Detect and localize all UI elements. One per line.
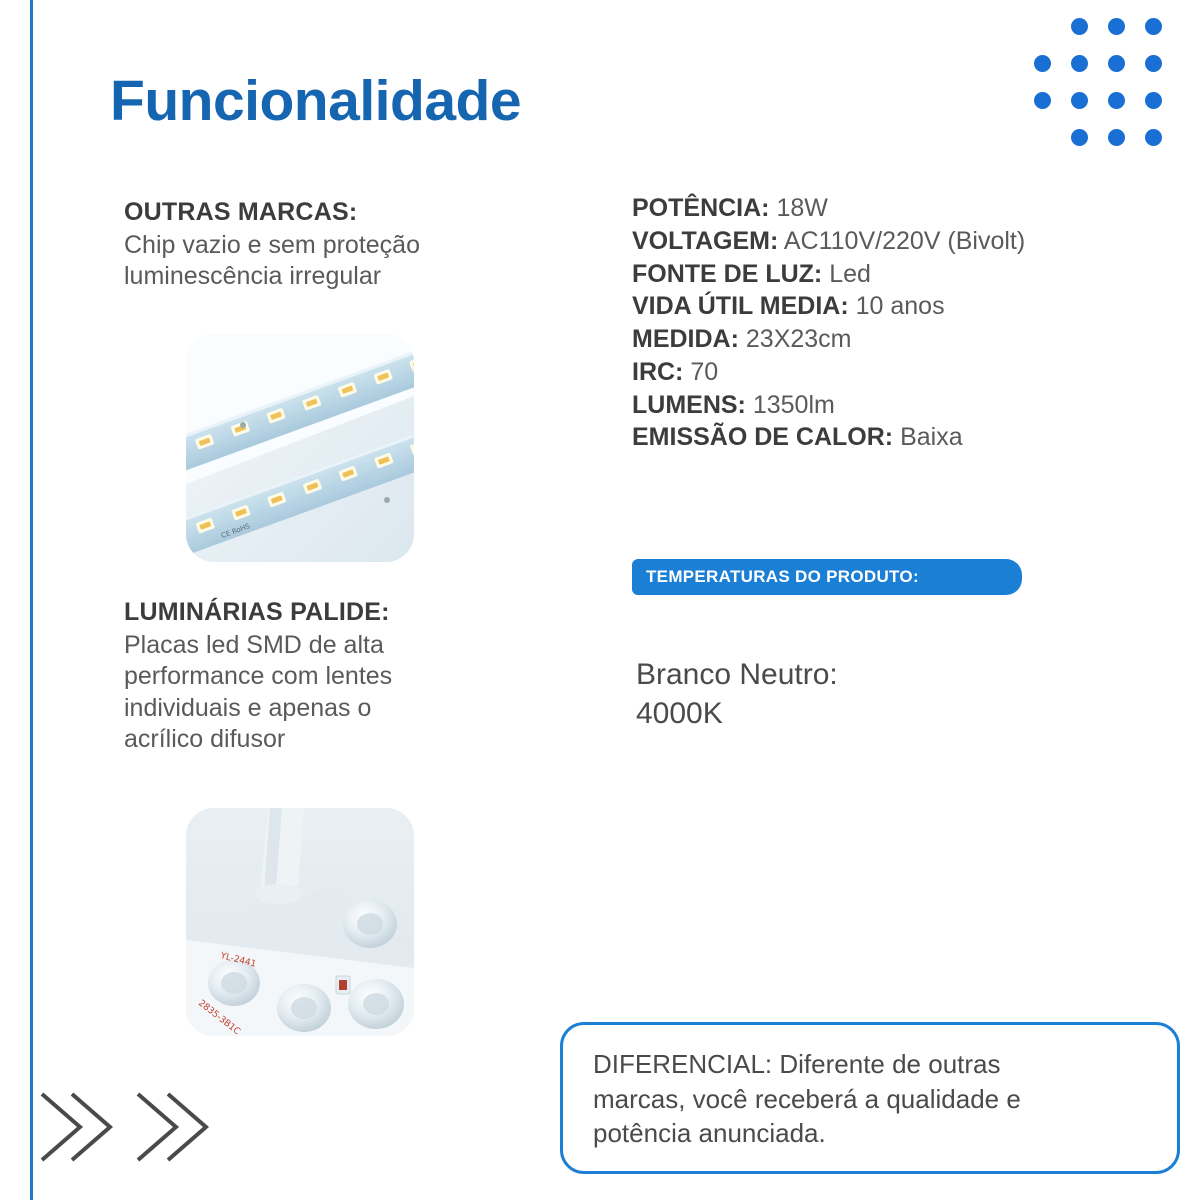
chevrons-decoration (28, 1082, 218, 1172)
pale-luminaires-body-line1: Placas led SMD de alta (124, 630, 524, 661)
spec-key: POTÊNCIA: (632, 194, 770, 222)
dot (1071, 55, 1088, 72)
spec-row: LUMENS: 1350lm (632, 389, 1132, 422)
spec-value: Baixa (900, 423, 963, 451)
pale-luminaires-block: LUMINÁRIAS PALIDE: Placas led SMD de alt… (124, 598, 524, 755)
dot (1034, 129, 1051, 146)
spec-row: VOLTAGEM: AC110V/220V (Bivolt) (632, 225, 1132, 258)
dot (1145, 129, 1162, 146)
dot-grid-decoration (1024, 8, 1172, 156)
spec-key: EMISSÃO DE CALOR: (632, 423, 893, 451)
spec-row: VIDA ÚTIL MEDIA: 10 anos (632, 290, 1132, 323)
pale-luminaires-body-line4: acrílico difusor (124, 724, 524, 755)
other-brands-body-line2: luminescência irregular (124, 261, 544, 292)
dot (1034, 55, 1051, 72)
spec-key: LUMENS: (632, 391, 746, 419)
spec-value: AC110V/220V (Bivolt) (784, 227, 1025, 255)
dot (1108, 18, 1125, 35)
dot (1145, 18, 1162, 35)
page-root: Funcionalidade OUTRAS MARCAS: Chip vazio… (0, 0, 1200, 1200)
dot (1071, 92, 1088, 109)
spec-value: 1350lm (753, 391, 835, 419)
spec-list: POTÊNCIA: 18W VOLTAGEM: AC110V/220V (Biv… (632, 192, 1132, 454)
dot (1034, 18, 1051, 35)
other-brands-body-line1: Chip vazio e sem proteção (124, 230, 544, 261)
dot (1145, 92, 1162, 109)
temperature-value-line2: 4000K (636, 694, 838, 733)
spec-value: 70 (690, 358, 718, 386)
spec-value: Led (829, 260, 871, 288)
spec-key: IRC: (632, 358, 683, 386)
led-lens-board-photo-graphic: YL-2441 2835-3B1C (186, 808, 414, 1036)
spec-row: FONTE DE LUZ: Led (632, 258, 1132, 291)
diferencial-line1: DIFERENCIAL: Diferente de outras (593, 1047, 1149, 1082)
spec-key: VOLTAGEM: (632, 227, 778, 255)
dot (1108, 92, 1125, 109)
spec-row: MEDIDA: 23X23cm (632, 323, 1132, 356)
led-lens-board-photo: YL-2441 2835-3B1C (186, 808, 414, 1036)
pale-luminaires-heading: LUMINÁRIAS PALIDE: (124, 598, 524, 627)
spec-value: 23X23cm (746, 325, 852, 353)
left-accent-rule (30, 0, 33, 1200)
spec-row: EMISSÃO DE CALOR: Baixa (632, 421, 1132, 454)
diferencial-text-line1: Diferente de outras (772, 1049, 1000, 1079)
dot (1071, 18, 1088, 35)
dot (1145, 55, 1162, 72)
spec-key: FONTE DE LUZ: (632, 260, 822, 288)
diferencial-box: DIFERENCIAL: Diferente de outras marcas,… (560, 1022, 1180, 1174)
dot (1108, 129, 1125, 146)
spec-key: MEDIDA: (632, 325, 739, 353)
dot (1071, 129, 1088, 146)
dot (1108, 55, 1125, 72)
temperatures-banner: TEMPERATURAS DO PRODUTO: (632, 559, 1022, 595)
led-strip-photo-graphic: CE RoHS (186, 334, 414, 562)
spec-row: IRC: 70 (632, 356, 1132, 389)
temperature-value: Branco Neutro: 4000K (636, 655, 838, 733)
pale-luminaires-body-line3: individuais e apenas o (124, 693, 524, 724)
spec-key: VIDA ÚTIL MEDIA: (632, 292, 849, 320)
spec-row: POTÊNCIA: 18W (632, 192, 1132, 225)
led-strip-photo: CE RoHS (186, 334, 414, 562)
dot (1034, 92, 1051, 109)
page-title: Funcionalidade (110, 68, 521, 134)
temperature-value-line1: Branco Neutro: (636, 655, 838, 694)
spec-value: 10 anos (856, 292, 945, 320)
diferencial-line2: marcas, você receberá a qualidade e (593, 1082, 1149, 1117)
spec-value: 18W (776, 194, 827, 222)
other-brands-heading: OUTRAS MARCAS: (124, 198, 544, 227)
diferencial-label: DIFERENCIAL: (593, 1049, 772, 1079)
pale-luminaires-body-line2: performance com lentes (124, 661, 524, 692)
diferencial-line3: potência anunciada. (593, 1116, 1149, 1151)
other-brands-block: OUTRAS MARCAS: Chip vazio e sem proteção… (124, 198, 544, 293)
